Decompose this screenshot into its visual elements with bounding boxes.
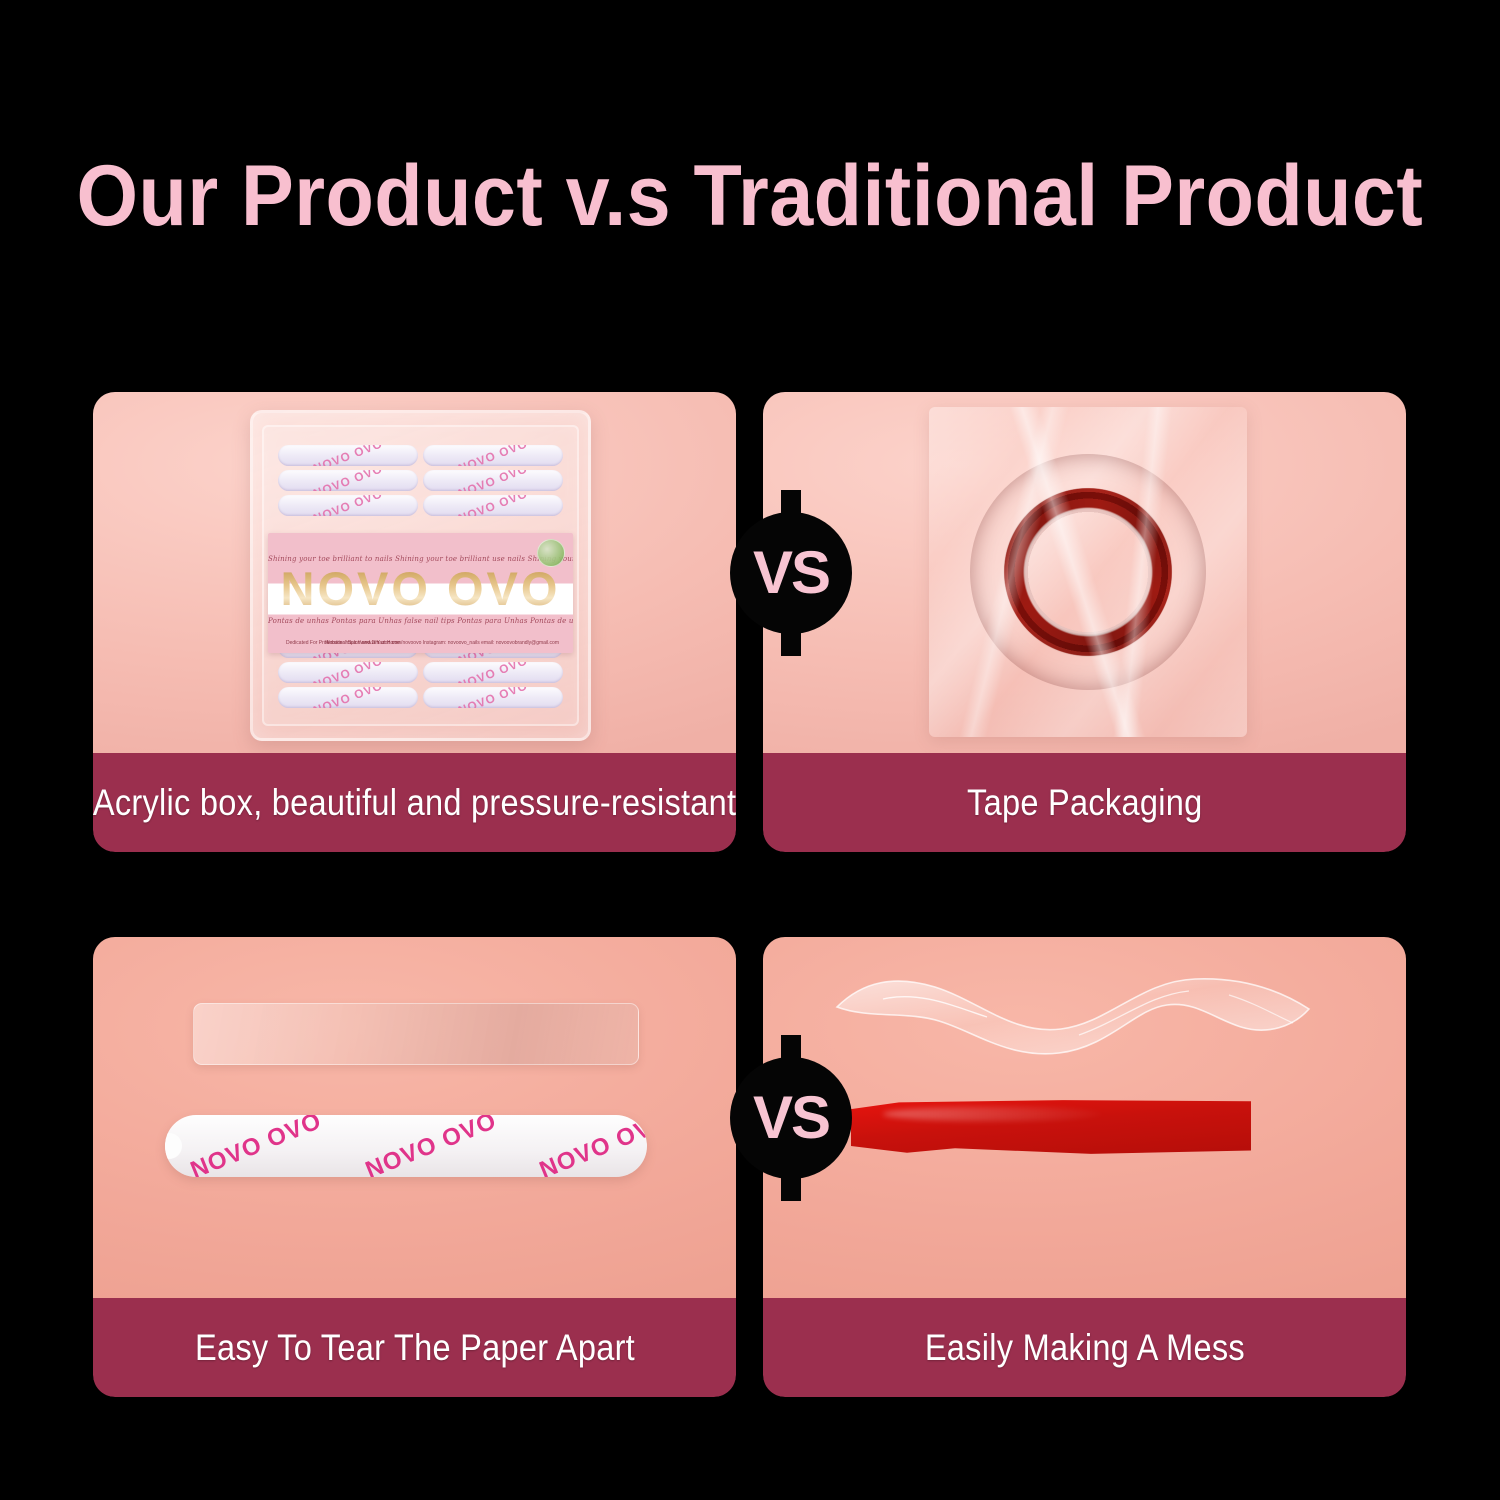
comparison-row-usability: NOVO OVO NOVO OVO NOVO OVO NOVO OVO Easy…: [93, 937, 1406, 1397]
red-tape-roll: [970, 454, 1206, 690]
vs-badge-top: VS: [730, 512, 852, 634]
strip-brand-text: NOVO OVO: [425, 470, 561, 491]
title-section: Our Product v.s Traditional Product: [0, 0, 1500, 392]
acrylic-storage-box: NOVO OVO NOVO OVO NOVO OVO NOVO OVO NOVO…: [250, 410, 591, 741]
caption-text: Easily Making A Mess: [924, 1327, 1244, 1369]
strip-brand-text: NOVO OVO: [536, 1115, 647, 1177]
clear-adhesive-strip: [193, 1003, 639, 1065]
caption-bar-traditional-packaging: Tape Packaging: [763, 753, 1406, 852]
caption-text: Tape Packaging: [967, 782, 1202, 824]
label-fineprint-right: Website: https://www.amazon.com/novoovo …: [325, 640, 559, 647]
tape-strip: NOVO OVO: [278, 687, 418, 708]
vs-label: VS: [753, 543, 829, 603]
photo-acrylic-box: NOVO OVO NOVO OVO NOVO OVO NOVO OVO NOVO…: [93, 392, 736, 753]
tape-strip: NOVO OVO: [278, 495, 418, 516]
vs-label: VS: [753, 1088, 829, 1148]
photo-paper-strips: NOVO OVO NOVO OVO NOVO OVO NOVO OVO: [93, 937, 736, 1298]
brand-name: NOVO OVO: [268, 565, 573, 612]
strip-brand-repeat: NOVO OVO NOVO OVO NOVO OVO NOVO OVO: [187, 1132, 647, 1160]
photo-messy-tape: [763, 937, 1406, 1298]
tape-strip-row: NOVO OVO NOVO OVO: [278, 495, 563, 516]
branded-paper-strip: NOVO OVO NOVO OVO NOVO OVO NOVO OVO: [165, 1115, 647, 1177]
strip-brand-text: NOVO OVO: [280, 662, 416, 683]
caption-text: Acrylic box, beautiful and pressure-resi…: [93, 782, 736, 824]
strip-brand-text: NOVO OVO: [425, 662, 561, 683]
tape-strip: NOVO OVO: [278, 662, 418, 683]
page-title: Our Product v.s Traditional Product: [77, 153, 1424, 239]
comparison-grid: NOVO OVO NOVO OVO NOVO OVO NOVO OVO NOVO…: [93, 392, 1406, 1397]
strip-brand-text: NOVO OVO: [280, 495, 416, 516]
tape-strip-row: NOVO OVO NOVO OVO: [278, 445, 563, 466]
recycle-leaf-icon: [537, 539, 565, 567]
tape-strip: NOVO OVO: [423, 470, 563, 491]
tape-strip: NOVO OVO: [423, 445, 563, 466]
tape-strip: NOVO OVO: [423, 687, 563, 708]
caption-bar-our-packaging: Acrylic box, beautiful and pressure-resi…: [93, 753, 736, 852]
panel-traditional-product-usability[interactable]: Easily Making A Mess: [763, 937, 1406, 1397]
caption-bar-our-usability: Easy To Tear The Paper Apart: [93, 1298, 736, 1397]
caption-text: Easy To Tear The Paper Apart: [195, 1327, 635, 1369]
strip-brand-text: NOVO OVO: [425, 495, 561, 516]
tape-strip: NOVO OVO: [423, 662, 563, 683]
strip-brand-text: NOVO OVO: [361, 1115, 500, 1177]
acrylic-box-interior: NOVO OVO NOVO OVO NOVO OVO NOVO OVO NOVO…: [262, 425, 579, 726]
strip-brand-text: NOVO OVO: [280, 687, 416, 708]
tape-strip-row: NOVO OVO NOVO OVO: [278, 470, 563, 491]
strip-brand-text: NOVO OVO: [280, 445, 416, 466]
panel-our-product-usability[interactable]: NOVO OVO NOVO OVO NOVO OVO NOVO OVO Easy…: [93, 937, 736, 1397]
tape-strip: NOVO OVO: [278, 470, 418, 491]
vs-badge-bottom: VS: [730, 1057, 852, 1179]
tape-strip: NOVO OVO: [278, 445, 418, 466]
tape-strip-row: NOVO OVO NOVO OVO: [278, 687, 563, 708]
tape-strip-stack-top: NOVO OVO NOVO OVO NOVO OVO NOVO OVO NOVO…: [278, 445, 563, 516]
strip-brand-text: NOVO OVO: [280, 470, 416, 491]
plastic-bag: [929, 407, 1247, 737]
red-tape-piece: [851, 1099, 1251, 1155]
panel-traditional-product-packaging[interactable]: Tape Packaging: [763, 392, 1406, 852]
product-brand-label: Shining your toe brilliant to nails Shin…: [268, 533, 573, 653]
tape-strip-row: NOVO OVO NOVO OVO: [278, 662, 563, 683]
label-script-lower: Pontas de unhas Pontas para Unhas false …: [268, 617, 573, 625]
strip-brand-text: NOVO OVO: [425, 445, 561, 466]
comparison-row-packaging: NOVO OVO NOVO OVO NOVO OVO NOVO OVO NOVO…: [93, 392, 1406, 852]
panel-our-product-packaging[interactable]: NOVO OVO NOVO OVO NOVO OVO NOVO OVO NOVO…: [93, 392, 736, 852]
crumpled-clear-film: [823, 965, 1323, 1077]
caption-bar-traditional-usability: Easily Making A Mess: [763, 1298, 1406, 1397]
tape-strip: NOVO OVO: [423, 495, 563, 516]
strip-brand-text: NOVO OVO: [425, 687, 561, 708]
photo-tape-roll-bag: [763, 392, 1406, 753]
strip-tear-tab: [165, 1133, 182, 1159]
strip-brand-text: NOVO OVO: [187, 1115, 326, 1177]
